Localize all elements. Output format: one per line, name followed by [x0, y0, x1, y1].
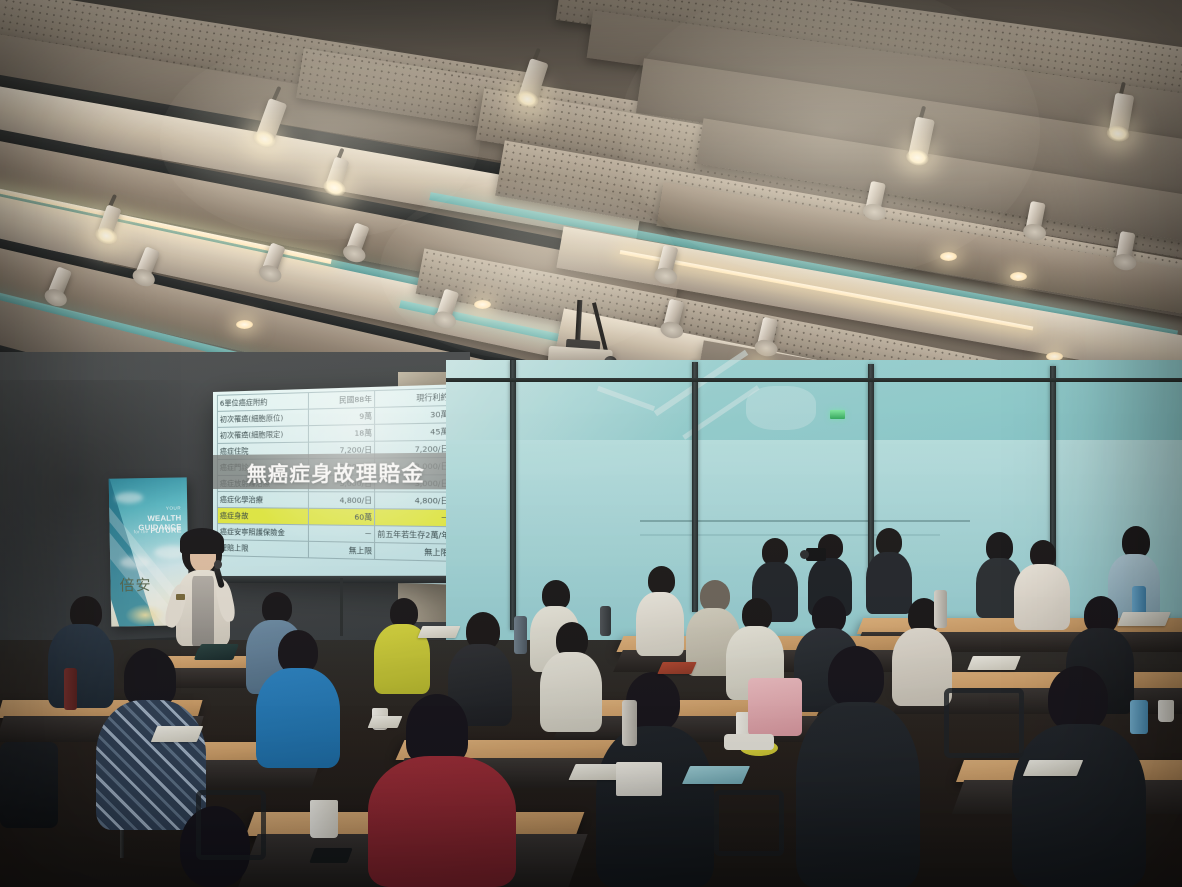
row-value-2: 前五年若生存2萬/年 — [375, 526, 452, 544]
row-value-2: 30萬 — [375, 406, 452, 425]
row-label: 癌症化學治療 — [217, 492, 308, 509]
attendee-plaid-shirt — [96, 700, 206, 830]
row-value-1: － — [308, 525, 375, 543]
projection-screen: 6單位癌症附約 民國88年 現行利約 初次罹癌(細胞原位) 9萬 30萬 初次罹… — [213, 384, 457, 584]
banner-line-future-small: for the — [134, 529, 149, 534]
table-header-cell: 現行利約 — [375, 388, 452, 407]
drink-bottle — [934, 590, 947, 628]
screen-surface: 6單位癌症附約 民國88年 現行利約 初次罹癌(細胞原位) 9萬 30萬 初次罹… — [213, 384, 457, 584]
row-label: 理賠上限 — [217, 540, 308, 558]
row-value-1: 60萬 — [308, 508, 375, 525]
chair — [944, 688, 1024, 758]
attendee-torso — [1012, 724, 1146, 887]
attendee-torso — [796, 702, 920, 887]
attendee-torso — [596, 726, 714, 887]
glass-mullion — [692, 362, 698, 612]
camera-lens-icon — [800, 550, 809, 559]
attendee-torso — [48, 624, 114, 708]
handout-paper — [1117, 612, 1171, 626]
table-header-cell: 民國88年 — [308, 391, 375, 410]
row-value-1: 18萬 — [308, 424, 375, 442]
presentation-clicker-icon — [176, 594, 185, 600]
handbag — [748, 678, 802, 736]
glass-transom — [446, 378, 1182, 382]
attendee-torso — [866, 552, 912, 614]
ceiling-downlight — [236, 320, 253, 329]
attendee-red-shirt — [368, 756, 516, 887]
banner-chinese-text: 倍安 — [119, 574, 151, 596]
ceiling-downlight — [474, 300, 491, 309]
attendee-hair — [124, 648, 176, 706]
attendee-hair — [1048, 666, 1108, 732]
row-value-1: 無上限 — [308, 541, 375, 559]
attendee-torso — [540, 652, 602, 732]
exit-sign — [830, 410, 845, 419]
chair — [196, 790, 266, 860]
table-row: 理賠上限 無上限 無上限 — [217, 540, 451, 562]
banner-line-your: YOUR — [109, 505, 187, 511]
paper-cup — [310, 800, 338, 838]
presenter-dress — [192, 576, 214, 646]
smartphone — [309, 848, 352, 863]
laptop — [195, 644, 239, 660]
drink-bottle — [64, 668, 77, 710]
presenter-hair — [180, 528, 224, 554]
row-value-2: 4,800/日 — [375, 492, 452, 509]
chair — [714, 790, 784, 856]
banner-future-word: FUTURE — [150, 525, 181, 535]
paper-cup — [1158, 700, 1174, 722]
drink-bottle — [622, 700, 637, 746]
ceiling-downlight — [940, 252, 957, 261]
plate — [724, 734, 774, 750]
drink-bottle — [1130, 700, 1148, 734]
screen-bottom-bar — [210, 576, 461, 584]
row-label: 癌症安寧照護保險金 — [217, 524, 308, 542]
row-value-1: 9萬 — [308, 407, 375, 425]
attendee-hair — [828, 646, 884, 708]
row-label: 癌症身故 — [217, 508, 308, 525]
slide-overlay-text: 無癌症身故理賠金 — [247, 456, 425, 487]
row-label: 初次罹癌 — [220, 430, 249, 440]
microphone-head-icon — [214, 560, 222, 569]
attendee-blue-shirt — [256, 668, 340, 768]
tissue-box — [616, 762, 662, 796]
screen-stand-leg — [340, 578, 343, 636]
camera-icon — [806, 548, 826, 561]
handout-paper — [418, 626, 461, 638]
attendee-torso — [636, 592, 684, 656]
attendee-hair — [648, 566, 675, 595]
attendee-torso — [892, 628, 952, 706]
row-value-2: 45萬 — [375, 423, 452, 441]
row-value-2: 無上限 — [375, 543, 452, 562]
row-value-2: － — [375, 509, 452, 527]
banner-line-future: for the FUTURE — [110, 525, 188, 535]
ceiling-downlight — [1010, 272, 1027, 281]
seminar-room-photo: 6單位癌症附約 民國88年 現行利約 初次罹癌(細胞原位) 9萬 30萬 初次罹… — [0, 0, 1182, 887]
drink-bottle — [600, 606, 611, 636]
handout-paper — [1023, 760, 1083, 776]
banner-starburst — [125, 604, 165, 627]
row-value-1: 4,800/日 — [308, 492, 375, 509]
handout-paper — [967, 656, 1021, 670]
attendee-hair — [406, 694, 468, 764]
drink-bottle — [514, 616, 527, 654]
attendee-torso — [1014, 564, 1070, 630]
handout-paper — [682, 766, 750, 784]
row-note: (細胞限定) — [248, 430, 283, 440]
handout-paper — [151, 726, 203, 742]
glass-etch-line — [640, 520, 970, 522]
backpack — [0, 742, 58, 828]
banner-cloud — [115, 492, 143, 503]
slide-overlay-banner: 無癌症身故理賠金 — [213, 452, 457, 489]
row-label: 初次罹癌 — [220, 414, 249, 424]
glass-mullion — [510, 360, 516, 630]
handout-brochure — [657, 662, 696, 674]
row-note: (細胞原位) — [248, 413, 283, 423]
table-row: 癌症化學治療 4,800/日 4,800/日 — [217, 492, 451, 510]
handout-paper — [368, 716, 403, 728]
